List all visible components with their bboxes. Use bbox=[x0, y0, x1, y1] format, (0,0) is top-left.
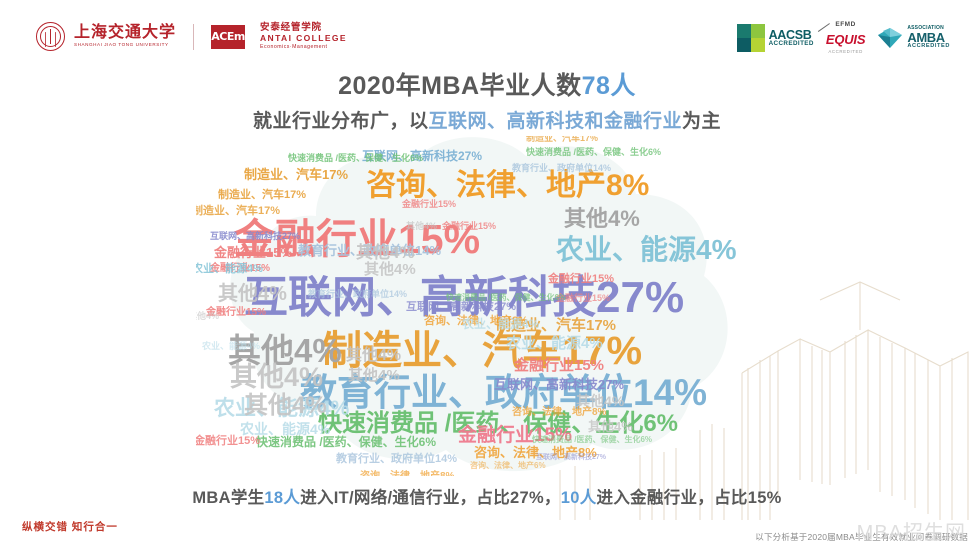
wordcloud-word: 快速消费品 /医药、保健、生化6% bbox=[532, 436, 652, 444]
wordcloud-word: 教育行业、政府单位14% bbox=[308, 290, 407, 299]
aacsb-square-icon bbox=[737, 24, 765, 52]
wordcloud-word: 快速消费品 /医药、保健、生化6% bbox=[288, 154, 423, 163]
summary-part1: MBA学生 bbox=[192, 489, 264, 507]
logo-divider bbox=[193, 24, 194, 50]
wordcloud-word: 其他4% bbox=[230, 364, 323, 391]
accreditation-badges: AACSB ACCREDITED EFMD EQUIS ACCREDITED A… bbox=[737, 22, 950, 54]
summary-highlight-2: 10人 bbox=[561, 489, 597, 507]
wordcloud-word: 金融行业15% bbox=[196, 436, 260, 447]
watermark-text: MBA招生网 bbox=[857, 516, 966, 545]
wordcloud-word: 制造业、汽车17% bbox=[196, 206, 280, 217]
amba-sublabel: ACCREDITED bbox=[907, 44, 950, 50]
equis-slash-icon bbox=[818, 23, 830, 32]
wordcloud-word: 其他4% bbox=[356, 244, 415, 261]
amba-gem-icon bbox=[877, 27, 903, 49]
industry-wordcloud: 咨询、法律、地产8%金融行业15%互联网、高新科技27%制造业、汽车17%其他4… bbox=[196, 136, 766, 476]
wordcloud-word: 咨询、法律、地产8% bbox=[360, 472, 454, 476]
subtitle-part1: 就业行业分布广，以 bbox=[253, 111, 429, 132]
wordcloud-word: 互联网、高新科技27% bbox=[406, 302, 516, 313]
summary-part3: 进入金融行业，占比15% bbox=[597, 489, 782, 507]
summary-highlight-1: 18人 bbox=[264, 489, 300, 507]
summary-part2: 进入IT/网络/通信行业，占比27%， bbox=[300, 489, 561, 507]
wordcloud-word: 其他4% bbox=[406, 222, 437, 231]
wordcloud-word: 金融行业15% bbox=[214, 246, 292, 259]
college-subtitle: Economics·Management bbox=[260, 45, 347, 50]
equis-label: EQUIS bbox=[826, 33, 865, 46]
wordcloud-word: 金融行业15% bbox=[548, 274, 614, 285]
subtitle-highlight: 互联网、高新科技和金融行业 bbox=[428, 111, 682, 132]
wordcloud-word: 教育行业、政府单位14% bbox=[336, 454, 457, 465]
wordcloud-word: 其他4% bbox=[348, 368, 400, 383]
wordcloud-word: 制造业、汽车17% bbox=[218, 190, 306, 201]
wordcloud-word: 互联网、高新科技27% bbox=[494, 378, 624, 391]
efmd-label: EFMD bbox=[835, 22, 855, 29]
wordcloud-word: 快速消费品 /医药、保健、生化6% bbox=[526, 148, 661, 157]
amba-logo: ASSOCIATION AMBA ACCREDITED bbox=[877, 26, 950, 50]
institution-logo: 上海交通大学 SHANGHAI JIAO TONG UNIVERSITY ACE… bbox=[36, 22, 347, 51]
wordcloud-word: 其他4% bbox=[576, 394, 624, 408]
wordcloud-word: 教育行业、政府单位14% bbox=[512, 164, 611, 173]
acem-logo-icon: ACEm bbox=[211, 25, 245, 49]
title-part1: 2020年MBA毕业人数 bbox=[338, 72, 582, 100]
page-subtitle: 就业行业分布广，以互联网、高新科技和金融行业为主 bbox=[0, 106, 974, 133]
summary-line: MBA学生18人进入IT/网络/通信行业，占比27%，10人进入金融行业，占比1… bbox=[0, 484, 974, 508]
wordcloud-word: 金融行业15% bbox=[442, 222, 496, 231]
university-name-en: SHANGHAI JIAO TONG UNIVERSITY bbox=[74, 43, 176, 48]
wordcloud-word: 农业、能源4% bbox=[196, 264, 263, 275]
wordcloud-word: 农业、能源4% bbox=[506, 336, 603, 351]
title-highlight: 78人 bbox=[582, 72, 636, 100]
wordcloud-word: 咨询、法律、地产8% bbox=[512, 408, 606, 418]
wordcloud-word: 咨询、法律、地产8% bbox=[366, 171, 649, 201]
wordcloud-word: 农业、能源4% bbox=[240, 422, 330, 436]
college-name-en: ANTAI COLLEGE bbox=[260, 34, 347, 43]
equis-logo: EFMD EQUIS ACCREDITED bbox=[826, 22, 865, 54]
wordcloud-word: 咨询、法律、地产6% bbox=[470, 462, 546, 470]
wordcloud-word: 其他4% bbox=[364, 262, 416, 277]
college-name-cn: 安泰经管学院 bbox=[260, 23, 347, 33]
wordcloud-word: 其他4% bbox=[218, 284, 287, 304]
equis-sublabel: ACCREDITED bbox=[828, 50, 863, 54]
aacsb-sublabel: ACCREDITED bbox=[769, 41, 814, 47]
wordcloud-word: 农业、能源4% bbox=[556, 236, 736, 264]
wordcloud-word: 其他4% bbox=[564, 208, 640, 230]
wordcloud-word: 农业、能源4% bbox=[462, 318, 539, 330]
wordcloud-word: 其他4% bbox=[196, 312, 219, 321]
wordcloud-word: 互联网、高新科技27% bbox=[210, 232, 300, 241]
wordcloud-word: 其他4% bbox=[244, 394, 327, 418]
subtitle-part2: 为主 bbox=[682, 111, 721, 132]
aacsb-logo: AACSB ACCREDITED bbox=[737, 24, 814, 52]
wordcloud-word: 金融行业15% bbox=[402, 200, 456, 209]
wordcloud-word: 金融行业15% bbox=[514, 358, 604, 373]
wordcloud-word: 其他4% bbox=[346, 348, 401, 364]
slide-root: 上海交通大学 SHANGHAI JIAO TONG UNIVERSITY ACE… bbox=[0, 0, 974, 557]
wordcloud-word: 快速消费品 /医药、保健、生化6% bbox=[446, 294, 566, 302]
wordcloud-word: 制造业、汽车17% bbox=[244, 168, 348, 181]
wordcloud-word: 快速消费品 /医药、保健、生化6% bbox=[256, 436, 436, 448]
wordcloud-word: 制造业、汽车17% bbox=[526, 136, 598, 143]
university-name-cn: 上海交通大学 bbox=[74, 25, 176, 41]
wordcloud-layer: 咨询、法律、地产8%金融行业15%互联网、高新科技27%制造业、汽车17%其他4… bbox=[196, 136, 766, 476]
page-title: 2020年MBA毕业人数78人 bbox=[0, 66, 974, 102]
wordcloud-word: 互联网、高新科技27% bbox=[536, 454, 606, 461]
acem-logo-text: ACEm bbox=[211, 30, 245, 43]
wordcloud-word: 农业、能源4% bbox=[202, 342, 260, 351]
motto-text: 纵横交错 知行合一 bbox=[22, 519, 118, 534]
wordcloud-word: 其他4% bbox=[588, 420, 633, 433]
sjtu-seal-icon bbox=[36, 22, 65, 51]
